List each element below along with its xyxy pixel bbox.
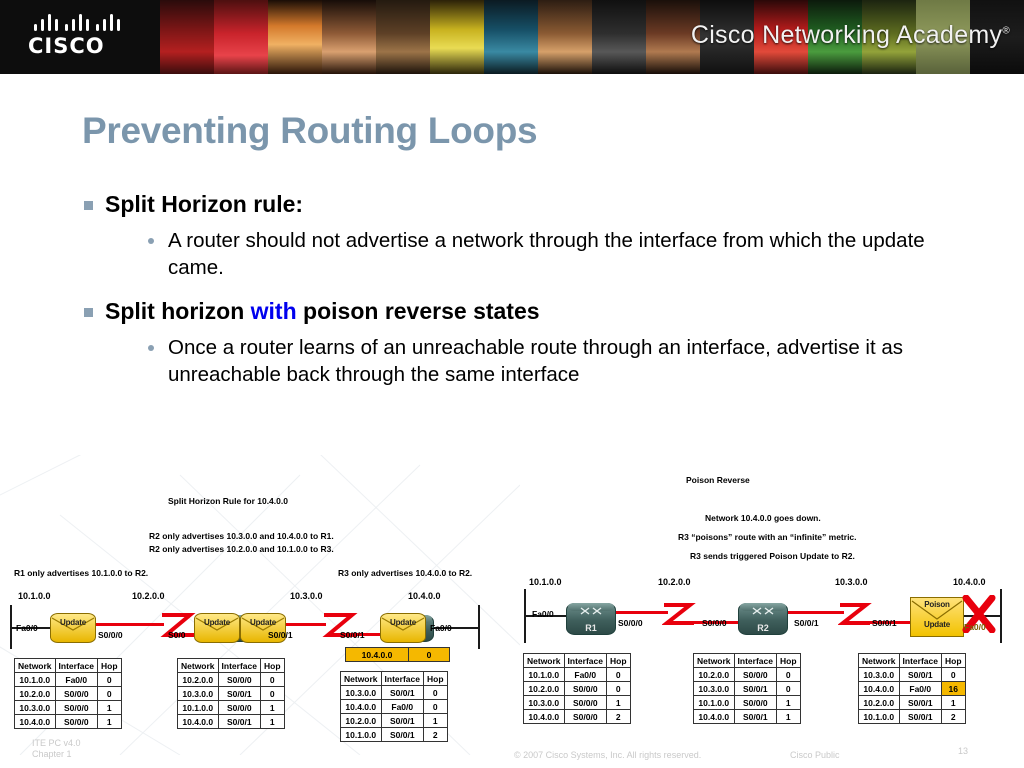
- cell-hop: 0: [409, 648, 450, 662]
- bullet-segment-with: with: [251, 298, 297, 324]
- table-cell: 10.4.0.0: [178, 715, 219, 729]
- right-figure-note-1: Network 10.4.0.0 goes down.: [705, 513, 821, 523]
- table-cell: 10.4.0.0: [524, 710, 565, 724]
- table-row: 10.4.0.0S0/0/01: [15, 715, 122, 729]
- network-label-10-4: 10.4.0.0: [408, 591, 441, 601]
- dot-bullet-icon: [148, 345, 154, 351]
- table-row: 10.1.0.0S0/0/12: [859, 710, 966, 724]
- interface-label-r3-s0: S0/0/1: [340, 630, 365, 640]
- table-cell: 0: [776, 668, 800, 682]
- bullet-level1-split-horizon: Split Horizon rule:: [84, 190, 984, 219]
- column-header-1: Interface: [564, 654, 606, 668]
- column-header-2: Hop: [776, 654, 800, 668]
- column-header-0: Network: [524, 654, 565, 668]
- footer-copyright: © 2007 Cisco Systems, Inc. All rights re…: [514, 750, 701, 760]
- footer-chapter: Chapter 1: [32, 749, 72, 759]
- update-envelope-r3: Update: [380, 613, 426, 643]
- table-cell: 0: [97, 687, 121, 701]
- table-cell: 1: [423, 714, 447, 728]
- table-cell: Fa0/0: [899, 682, 941, 696]
- table-header-row: NetworkInterfaceHop: [15, 659, 122, 673]
- table-row: 10.4.0.0S0/0/02: [524, 710, 631, 724]
- table-cell: 10.2.0.0: [859, 696, 900, 710]
- table-header-row: NetworkInterfaceHop: [178, 659, 285, 673]
- table-cell: S0/0/1: [899, 710, 941, 724]
- table-cell: 10.4.0.0: [341, 700, 382, 714]
- table-cell: 16: [941, 682, 965, 696]
- bullet-segment-3: poison reverse states: [297, 298, 540, 324]
- table-row: 10.2.0.0S0/0/00: [524, 682, 631, 696]
- table-cell: 2: [606, 710, 630, 724]
- table-cell: 10.4.0.0: [694, 710, 735, 724]
- bullet-segment-1: Split horizon: [105, 298, 251, 324]
- table-row: 10.3.0.0S0/0/10: [178, 687, 285, 701]
- table-cell: 10.3.0.0: [524, 696, 565, 710]
- page-title: Preventing Routing Loops: [82, 110, 537, 152]
- table-cell: S0/0/1: [381, 686, 423, 700]
- interface-label-r1-s0: S0/0/0: [98, 630, 123, 640]
- left-r1-routing-table: NetworkInterfaceHop10.1.0.0Fa0/0010.2.0.…: [14, 658, 122, 729]
- table-row: 10.2.0.0S0/0/00: [178, 673, 285, 687]
- column-header-0: Network: [341, 672, 382, 686]
- poison-path-seg-3: [782, 611, 844, 614]
- poison-envelope-label-2: Update: [911, 621, 963, 629]
- table-cell: 10.3.0.0: [341, 686, 382, 700]
- dot-bullet-icon: [148, 238, 154, 244]
- table-cell: 10.1.0.0: [859, 710, 900, 724]
- table-cell: S0/0/1: [899, 696, 941, 710]
- table-header-row: NetworkInterfaceHop: [341, 672, 448, 686]
- highlight-route-row: 10.4.0.0 0: [345, 647, 450, 662]
- envelope-label: Update: [241, 619, 285, 627]
- table-cell: S0/0/1: [381, 714, 423, 728]
- interface-label-r2-left: S0/0: [168, 630, 186, 640]
- serial-zigzag-icon: [838, 603, 872, 627]
- interface-label-r1-fa: Fa0/0: [532, 609, 554, 619]
- table-cell: 10.2.0.0: [178, 673, 219, 687]
- table-header-row: NetworkInterfaceHop: [694, 654, 801, 668]
- table-cell: S0/0/1: [899, 668, 941, 682]
- interface-label-r2-right: S0/0/1: [268, 630, 293, 640]
- interface-label-r2-left: S0/0/0: [702, 618, 727, 628]
- table-row: 10.4.0.0 0: [346, 648, 450, 662]
- router-r2: R2: [738, 603, 788, 635]
- table-cell: 1: [260, 701, 284, 715]
- table-row: 10.3.0.0S0/0/10: [859, 668, 966, 682]
- left-figure-note-1: R2 only advertises 10.3.0.0 and 10.4.0.0…: [149, 531, 334, 541]
- interface-label-r1-s0: S0/0/0: [618, 618, 643, 628]
- column-header-1: Interface: [381, 672, 423, 686]
- right-r3-routing-table: NetworkInterfaceHop10.3.0.0S0/0/1010.4.0…: [858, 653, 966, 724]
- table-cell: 0: [941, 668, 965, 682]
- left-figure-split-horizon: Split Horizon Rule for 10.4.0.0 R2 only …: [0, 455, 510, 755]
- table-cell: 0: [606, 668, 630, 682]
- cisco-logo: CISCO: [28, 14, 158, 60]
- table-cell: 2: [941, 710, 965, 724]
- table-cell: 0: [97, 673, 121, 687]
- table-cell: S0/0/0: [564, 696, 606, 710]
- envelope-label: Update: [195, 619, 239, 627]
- table-header-row: NetworkInterfaceHop: [524, 654, 631, 668]
- square-bullet-icon: [84, 308, 93, 317]
- column-header-0: Network: [859, 654, 900, 668]
- envelope-label: Update: [51, 619, 95, 627]
- table-cell: 10.2.0.0: [15, 687, 56, 701]
- router-label: R2: [739, 623, 787, 633]
- table-cell: S0/0/1: [218, 715, 260, 729]
- bullet-level2-split-horizon-desc: A router should not advertise a network …: [148, 227, 984, 281]
- table-row: 10.3.0.0S0/0/10: [694, 682, 801, 696]
- table-cell: S0/0/0: [218, 701, 260, 715]
- network-label-10-1: 10.1.0.0: [18, 591, 51, 601]
- table-cell: S0/0/1: [734, 682, 776, 696]
- table-cell: 0: [606, 682, 630, 696]
- update-path-seg-1: [96, 623, 164, 626]
- table-row: 10.4.0.0Fa0/00: [341, 700, 448, 714]
- interface-label-r2-right: S0/0/1: [794, 618, 819, 628]
- interface-label-r3-fa: Fa0/0: [430, 623, 452, 633]
- table-cell: 0: [423, 700, 447, 714]
- cell-network: 10.4.0.0: [346, 648, 409, 662]
- cisco-wordmark: CISCO: [28, 34, 158, 58]
- router-arrows-icon: [580, 606, 602, 616]
- left-figure-note-left: R1 only advertises 10.1.0.0 to R2.: [14, 568, 148, 578]
- right-figure-poison-reverse: Poison Reverse Network 10.4.0.0 goes dow…: [510, 455, 1024, 755]
- interface-label-r1-fa: Fa0/0: [16, 623, 38, 633]
- update-envelope-r2-left: Update: [194, 613, 240, 643]
- table-cell: S0/0/0: [218, 673, 260, 687]
- column-header-1: Interface: [218, 659, 260, 673]
- column-header-1: Interface: [734, 654, 776, 668]
- table-cell: 1: [260, 715, 284, 729]
- left-figure-caption: Split Horizon Rule for 10.4.0.0: [168, 496, 288, 506]
- bullet-text: Split horizon with poison reverse states: [105, 297, 540, 326]
- table-cell: S0/0/0: [564, 710, 606, 724]
- column-header-0: Network: [178, 659, 219, 673]
- footer-course: ITE PC v4.0: [32, 738, 81, 748]
- right-r1-routing-table: NetworkInterfaceHop10.1.0.0Fa0/0010.2.0.…: [523, 653, 631, 724]
- network-label-10-4: 10.4.0.0: [953, 577, 986, 587]
- table-row: 10.1.0.0Fa0/00: [524, 668, 631, 682]
- table-cell: 1: [776, 710, 800, 724]
- left-figure-note-2: R2 only advertises 10.2.0.0 and 10.1.0.0…: [149, 544, 334, 554]
- table-cell: 10.1.0.0: [15, 673, 56, 687]
- table-row: 10.4.0.0S0/0/11: [178, 715, 285, 729]
- table-cell: 10.4.0.0: [15, 715, 56, 729]
- table-row: 10.4.0.0Fa0/016: [859, 682, 966, 696]
- interface-label-r3-fa: Fa0/0: [964, 622, 986, 632]
- left-figure-note-right: R3 only advertises 10.4.0.0 to R2.: [338, 568, 472, 578]
- table-cell: 0: [260, 673, 284, 687]
- column-header-2: Hop: [606, 654, 630, 668]
- table-cell: S0/0/1: [218, 687, 260, 701]
- table-header-row: NetworkInterfaceHop: [859, 654, 966, 668]
- router-r1: R1: [566, 603, 616, 635]
- table-cell: 0: [423, 686, 447, 700]
- table-row: 10.3.0.0S0/0/01: [524, 696, 631, 710]
- right-r2-routing-table: NetworkInterfaceHop10.2.0.0S0/0/0010.3.0…: [693, 653, 801, 724]
- interface-label-r3-s0: S0/0/1: [872, 618, 897, 628]
- slide-footer: ITE PC v4.0 Chapter 1 © 2007 Cisco Syste…: [0, 734, 1024, 768]
- update-envelope-r1: Update: [50, 613, 96, 643]
- bullet-text: Split Horizon rule:: [105, 190, 303, 219]
- serial-zigzag-icon: [662, 603, 696, 627]
- table-row: 10.1.0.0S0/0/01: [178, 701, 285, 715]
- table-cell: S0/0/0: [734, 696, 776, 710]
- table-row: 10.1.0.0Fa0/00: [15, 673, 122, 687]
- column-header-2: Hop: [97, 659, 121, 673]
- table-cell: 10.2.0.0: [341, 714, 382, 728]
- table-cell: Fa0/0: [381, 700, 423, 714]
- table-cell: 10.3.0.0: [859, 668, 900, 682]
- poison-update-envelope: Poison Update: [910, 597, 964, 637]
- bullet-list: Split Horizon rule: A router should not …: [84, 188, 984, 388]
- column-header-1: Interface: [55, 659, 97, 673]
- table-row: 10.4.0.0S0/0/11: [694, 710, 801, 724]
- poison-envelope-label-1: Poison: [911, 601, 963, 609]
- table-cell: 10.3.0.0: [694, 682, 735, 696]
- header-banner: CISCO Cisco Networking Academy®: [0, 0, 1024, 74]
- table-cell: 1: [776, 696, 800, 710]
- right-figure-note-2: R3 “poisons” route with an “infinite” me…: [678, 532, 857, 542]
- network-label-10-1: 10.1.0.0: [529, 577, 562, 587]
- table-cell: 10.3.0.0: [15, 701, 56, 715]
- network-label-10-3: 10.3.0.0: [835, 577, 868, 587]
- table-cell: S0/0/0: [734, 668, 776, 682]
- bullet-level2-poison-reverse-desc: Once a router learns of an unreachable r…: [148, 334, 984, 388]
- table-cell: 1: [941, 696, 965, 710]
- network-label-10-2: 10.2.0.0: [658, 577, 691, 587]
- left-r3-routing-table: NetworkInterfaceHop10.3.0.0S0/0/1010.4.0…: [340, 671, 448, 742]
- table-cell: S0/0/0: [55, 687, 97, 701]
- table-row: 10.2.0.0S0/0/00: [694, 668, 801, 682]
- bullet-text: A router should not advertise a network …: [168, 227, 958, 281]
- table-cell: 1: [606, 696, 630, 710]
- footer-classification: Cisco Public: [790, 750, 840, 760]
- table-row: 10.2.0.0S0/0/11: [341, 714, 448, 728]
- table-row: 10.1.0.0S0/0/01: [694, 696, 801, 710]
- network-label-10-2: 10.2.0.0: [132, 591, 165, 601]
- poison-path-seg-1: [610, 611, 668, 614]
- table-row: 10.3.0.0S0/0/10: [341, 686, 448, 700]
- table-cell: 1: [97, 701, 121, 715]
- trademark-symbol: ®: [1002, 26, 1010, 37]
- column-header-2: Hop: [941, 654, 965, 668]
- table-cell: 10.2.0.0: [524, 682, 565, 696]
- column-header-0: Network: [15, 659, 56, 673]
- bullet-level1-poison-reverse: Split horizon with poison reverse states: [84, 297, 984, 326]
- column-header-2: Hop: [260, 659, 284, 673]
- table-cell: Fa0/0: [564, 668, 606, 682]
- column-header-0: Network: [694, 654, 735, 668]
- bullet-text: Once a router learns of an unreachable r…: [168, 334, 958, 388]
- column-header-2: Hop: [423, 672, 447, 686]
- table-cell: 10.2.0.0: [694, 668, 735, 682]
- router-label: R1: [567, 623, 615, 633]
- square-bullet-icon: [84, 201, 93, 210]
- table-row: 10.2.0.0S0/0/11: [859, 696, 966, 710]
- table-cell: 10.1.0.0: [524, 668, 565, 682]
- academy-wordmark: Cisco Networking Academy®: [691, 21, 1010, 50]
- column-header-1: Interface: [899, 654, 941, 668]
- table-row: 10.2.0.0S0/0/00: [15, 687, 122, 701]
- table-cell: 0: [260, 687, 284, 701]
- router-arrows-icon: [752, 606, 774, 616]
- table-cell: S0/0/0: [55, 715, 97, 729]
- table-cell: 10.1.0.0: [694, 696, 735, 710]
- table-cell: S0/0/0: [55, 701, 97, 715]
- table-cell: S0/0/0: [564, 682, 606, 696]
- footer-page-number: 13: [958, 746, 968, 756]
- right-figure-note-3: R3 sends triggered Poison Update to R2.: [690, 551, 855, 561]
- table-cell: 10.1.0.0: [178, 701, 219, 715]
- envelope-label: Update: [381, 619, 425, 627]
- network-label-10-3: 10.3.0.0: [290, 591, 323, 601]
- cisco-bridge-icon: [34, 14, 130, 31]
- table-cell: 10.3.0.0: [178, 687, 219, 701]
- table-row: 10.3.0.0S0/0/01: [15, 701, 122, 715]
- right-figure-caption: Poison Reverse: [686, 475, 750, 485]
- table-cell: Fa0/0: [55, 673, 97, 687]
- table-cell: S0/0/1: [734, 710, 776, 724]
- table-cell: 0: [776, 682, 800, 696]
- table-cell: 1: [97, 715, 121, 729]
- table-cell: 10.4.0.0: [859, 682, 900, 696]
- left-r2-routing-table: NetworkInterfaceHop10.2.0.0S0/0/0010.3.0…: [177, 658, 285, 729]
